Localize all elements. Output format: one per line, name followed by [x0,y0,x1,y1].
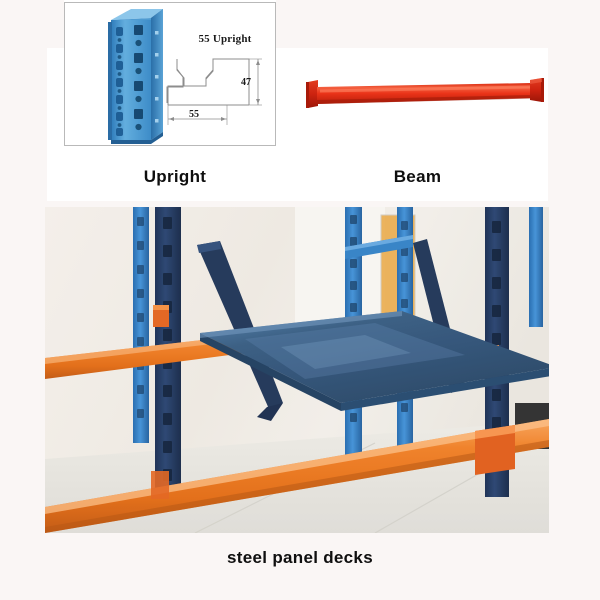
steel-panel-deck-photo [45,207,549,533]
drawing-title: 55 Upright [175,33,275,45]
beam-illustration [300,60,548,140]
dimension-width-label: 55 [189,109,199,120]
caption-beam: Beam [330,167,505,187]
product-info-page: 55 Upright 47 [0,0,600,600]
caption-upright: Upright [90,167,260,187]
dimension-height-label: 47 [241,77,251,88]
upright-drawing-box: 55 Upright 47 [64,2,276,146]
caption-steel-panel-decks: steel panel decks [150,548,450,568]
upright-cross-section: 47 55 [163,53,275,131]
